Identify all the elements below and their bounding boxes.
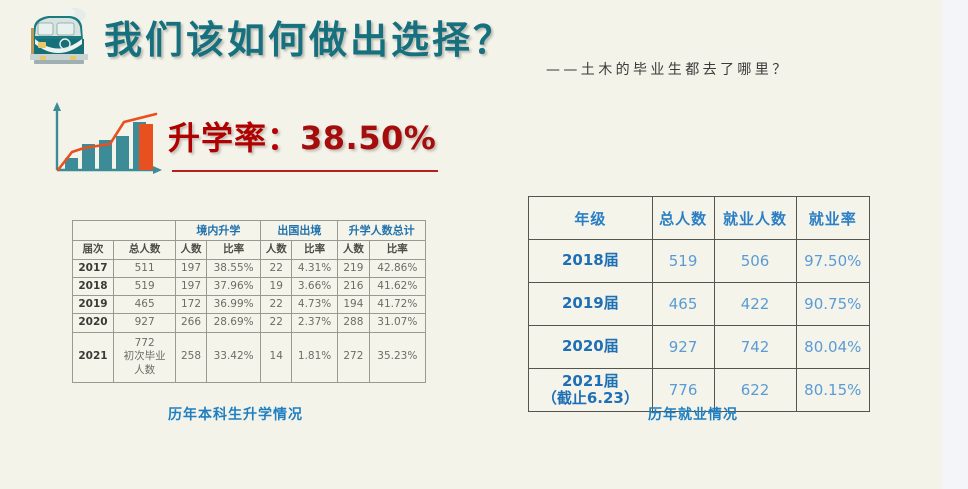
subheader-year: 届次 [73, 241, 114, 260]
cell-abroad-count: 22 [261, 296, 292, 314]
cell-grade-value: 2021届 [529, 373, 652, 390]
cell-domestic-rate: 37.96% [206, 278, 261, 296]
table-row: 2020 927 266 28.69% 22 2.37% 288 31.07% [73, 314, 426, 332]
header-total: 总人数 [652, 197, 714, 240]
subheader-abroad-rate: 比率 [291, 241, 337, 260]
left-table-caption: 历年本科生升学情况 [168, 404, 303, 424]
table-row: 2018届 519 506 97.50% [529, 240, 870, 283]
cell-sum-rate: 42.86% [369, 260, 425, 278]
cell-abroad-rate: 1.81% [291, 332, 337, 382]
header-employed: 就业人数 [714, 197, 796, 240]
cell-abroad-rate: 4.31% [291, 260, 337, 278]
cell-domestic-rate: 36.99% [206, 296, 261, 314]
cell-abroad-rate: 3.66% [291, 278, 337, 296]
table-row: 2018 519 197 37.96% 19 3.66% 216 41.62% [73, 278, 426, 296]
cell-sum-count: 272 [338, 332, 369, 382]
cell-total: 519 [652, 240, 714, 283]
group-header-blank [73, 221, 176, 241]
cell-domestic-count: 197 [176, 278, 207, 296]
table-row: 2020届 927 742 80.04% [529, 326, 870, 369]
subheader-abroad-count: 人数 [261, 241, 292, 260]
employment-table: 年级 总人数 就业人数 就业率 2018届 519 506 97.50% 201… [528, 196, 870, 412]
cell-total: 511 [113, 260, 175, 278]
slide-canvas: 我们该如何做出选择？ ——土木的毕业生都去了哪里？ 升学率：38.50% [0, 0, 968, 489]
cell-rate: 80.15% [796, 369, 869, 412]
cell-abroad-rate: 2.37% [291, 314, 337, 332]
cell-year: 2020 [73, 314, 114, 332]
group-header-total: 升学人数总计 [338, 221, 426, 241]
cell-domestic-rate: 38.55% [206, 260, 261, 278]
train-icon [22, 6, 100, 68]
cell-year: 2019 [73, 296, 114, 314]
cell-employed: 506 [714, 240, 796, 283]
subheader-sum-rate: 比率 [369, 241, 425, 260]
cell-year: 2021 [73, 332, 114, 382]
cell-grade: 2021届 （截止6.23） [529, 369, 653, 412]
cell-rate: 80.04% [796, 326, 869, 369]
cell-grade: 2019届 [529, 283, 653, 326]
cell-domestic-count: 172 [176, 296, 207, 314]
cell-sum-count: 216 [338, 278, 369, 296]
cell-sum-count: 288 [338, 314, 369, 332]
growth-bar-chart-icon [44, 100, 164, 178]
cell-employed: 422 [714, 283, 796, 326]
cell-domestic-count: 258 [176, 332, 207, 382]
cell-abroad-count: 14 [261, 332, 292, 382]
table-row: 2021 772 初次毕业人数 258 33.42% 14 1.81% 272 … [73, 332, 426, 382]
right-gutter-strip [942, 0, 968, 489]
cell-domestic-count: 266 [176, 314, 207, 332]
table-group-header-row: 境内升学 出国出境 升学人数总计 [73, 221, 426, 241]
table-row: 2019 465 172 36.99% 22 4.73% 194 41.72% [73, 296, 426, 314]
cell-domestic-rate: 33.42% [206, 332, 261, 382]
table-subheader-row: 届次 总人数 人数 比率 人数 比率 人数 比率 [73, 241, 426, 260]
cell-year: 2017 [73, 260, 114, 278]
enrollment-rate-label: 升学率： [168, 119, 300, 157]
table-header-row: 年级 总人数 就业人数 就业率 [529, 197, 870, 240]
cell-sum-rate: 35.23% [369, 332, 425, 382]
cell-abroad-rate: 4.73% [291, 296, 337, 314]
undergrad-enrollment-table: 境内升学 出国出境 升学人数总计 届次 总人数 人数 比率 人数 比率 人数 比… [72, 220, 426, 383]
cell-grade: 2020届 [529, 326, 653, 369]
subheader-domestic-rate: 比率 [206, 241, 261, 260]
cell-total-value: 772 [115, 337, 174, 350]
table-row: 2017 511 197 38.55% 22 4.31% 219 42.86% [73, 260, 426, 278]
cell-rate: 97.50% [796, 240, 869, 283]
page-title: 我们该如何做出选择？ [104, 9, 514, 64]
enrollment-rate-stat: 升学率：38.50% [168, 113, 436, 159]
cell-abroad-count: 22 [261, 314, 292, 332]
cell-total: 927 [113, 314, 175, 332]
cell-year: 2018 [73, 278, 114, 296]
cell-abroad-count: 19 [261, 278, 292, 296]
cell-grade-note: （截止6.23） [529, 390, 652, 407]
group-header-abroad: 出国出境 [261, 221, 338, 241]
subheader-domestic-count: 人数 [176, 241, 207, 260]
group-header-domestic: 境内升学 [176, 221, 261, 241]
cell-total-note: 初次毕业人数 [122, 350, 168, 376]
header-grade: 年级 [529, 197, 653, 240]
stat-underline-rule [172, 170, 438, 172]
cell-total: 465 [113, 296, 175, 314]
cell-sum-rate: 41.72% [369, 296, 425, 314]
cell-rate: 90.75% [796, 283, 869, 326]
cell-total: 927 [652, 326, 714, 369]
page-subtitle: ——土木的毕业生都去了哪里？ [546, 59, 790, 79]
cell-total: 772 初次毕业人数 [113, 332, 175, 382]
cell-sum-count: 194 [338, 296, 369, 314]
enrollment-rate-value: 38.50% [300, 119, 436, 157]
cell-total: 465 [652, 283, 714, 326]
cell-sum-rate: 41.62% [369, 278, 425, 296]
cell-domestic-rate: 28.69% [206, 314, 261, 332]
table-row: 2019届 465 422 90.75% [529, 283, 870, 326]
subheader-sum-count: 人数 [338, 241, 369, 260]
cell-abroad-count: 22 [261, 260, 292, 278]
subheader-total-count: 总人数 [113, 241, 175, 260]
cell-sum-rate: 31.07% [369, 314, 425, 332]
cell-employed: 742 [714, 326, 796, 369]
cell-grade: 2018届 [529, 240, 653, 283]
cell-total: 519 [113, 278, 175, 296]
cell-domestic-count: 197 [176, 260, 207, 278]
cell-sum-count: 219 [338, 260, 369, 278]
header-rate: 就业率 [796, 197, 869, 240]
right-table-caption: 历年就业情况 [648, 404, 738, 424]
